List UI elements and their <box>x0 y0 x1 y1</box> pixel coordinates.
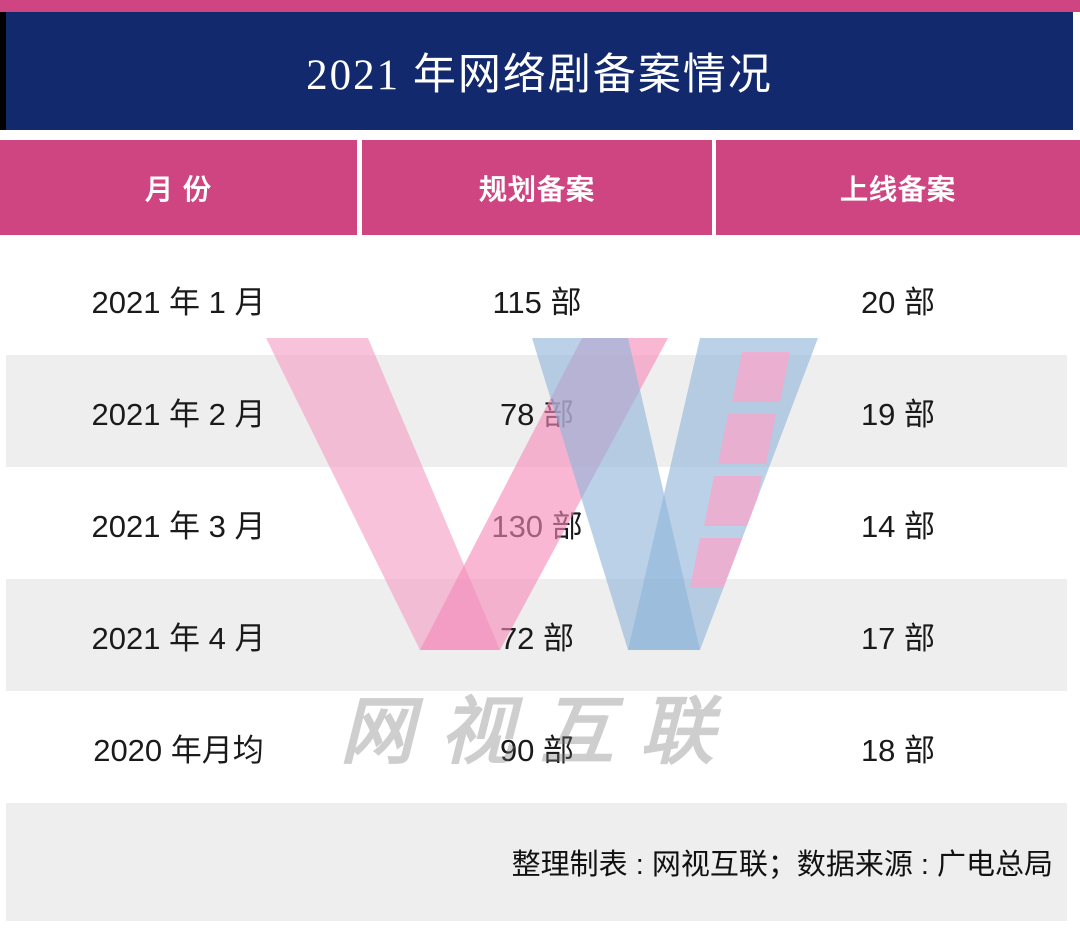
cell-planned: 72 部 <box>362 579 712 691</box>
table-header-row: 月 份 规划备案 上线备案 <box>0 140 1080 235</box>
table-row: 2021 年 1 月 115 部 20 部 <box>0 243 1080 355</box>
cell-online: 20 部 <box>716 243 1080 355</box>
cell-planned: 130 部 <box>362 467 712 579</box>
column-header-online: 上线备案 <box>716 140 1080 235</box>
cell-online: 17 部 <box>716 579 1080 691</box>
cell-online: 19 部 <box>716 355 1080 467</box>
page-title: 2021 年网络剧备案情况 <box>6 12 1073 130</box>
source-note: 整理制表 : 网视互联；数据来源 : 广电总局 <box>512 803 1053 921</box>
cell-month: 2021 年 1 月 <box>0 243 357 355</box>
cell-online: 18 部 <box>716 691 1080 803</box>
cell-planned: 90 部 <box>362 691 712 803</box>
table-row: 2020 年月均 90 部 18 部 <box>0 691 1080 803</box>
cell-month: 2021 年 2 月 <box>0 355 357 467</box>
table-body: 2021 年 1 月 115 部 20 部 2021 年 2 月 78 部 19… <box>0 243 1080 803</box>
cell-month: 2020 年月均 <box>0 691 357 803</box>
cell-month: 2021 年 4 月 <box>0 579 357 691</box>
table-row: 2021 年 3 月 130 部 14 部 <box>0 467 1080 579</box>
title-bar: 2021 年网络剧备案情况 <box>0 12 1073 130</box>
cell-planned: 78 部 <box>362 355 712 467</box>
table-row: 2021 年 2 月 78 部 19 部 <box>0 355 1080 467</box>
column-header-month: 月 份 <box>0 140 357 235</box>
column-header-planned: 规划备案 <box>362 140 712 235</box>
table-row: 2021 年 4 月 72 部 17 部 <box>0 579 1080 691</box>
footer-row: 整理制表 : 网视互联；数据来源 : 广电总局 <box>6 803 1067 921</box>
cell-online: 14 部 <box>716 467 1080 579</box>
cell-month: 2021 年 3 月 <box>0 467 357 579</box>
infographic-table-page: 2021 年网络剧备案情况 月 份 规划备案 上线备案 2021 年 1 月 1… <box>0 0 1080 937</box>
top-accent-band <box>0 0 1080 12</box>
cell-planned: 115 部 <box>362 243 712 355</box>
